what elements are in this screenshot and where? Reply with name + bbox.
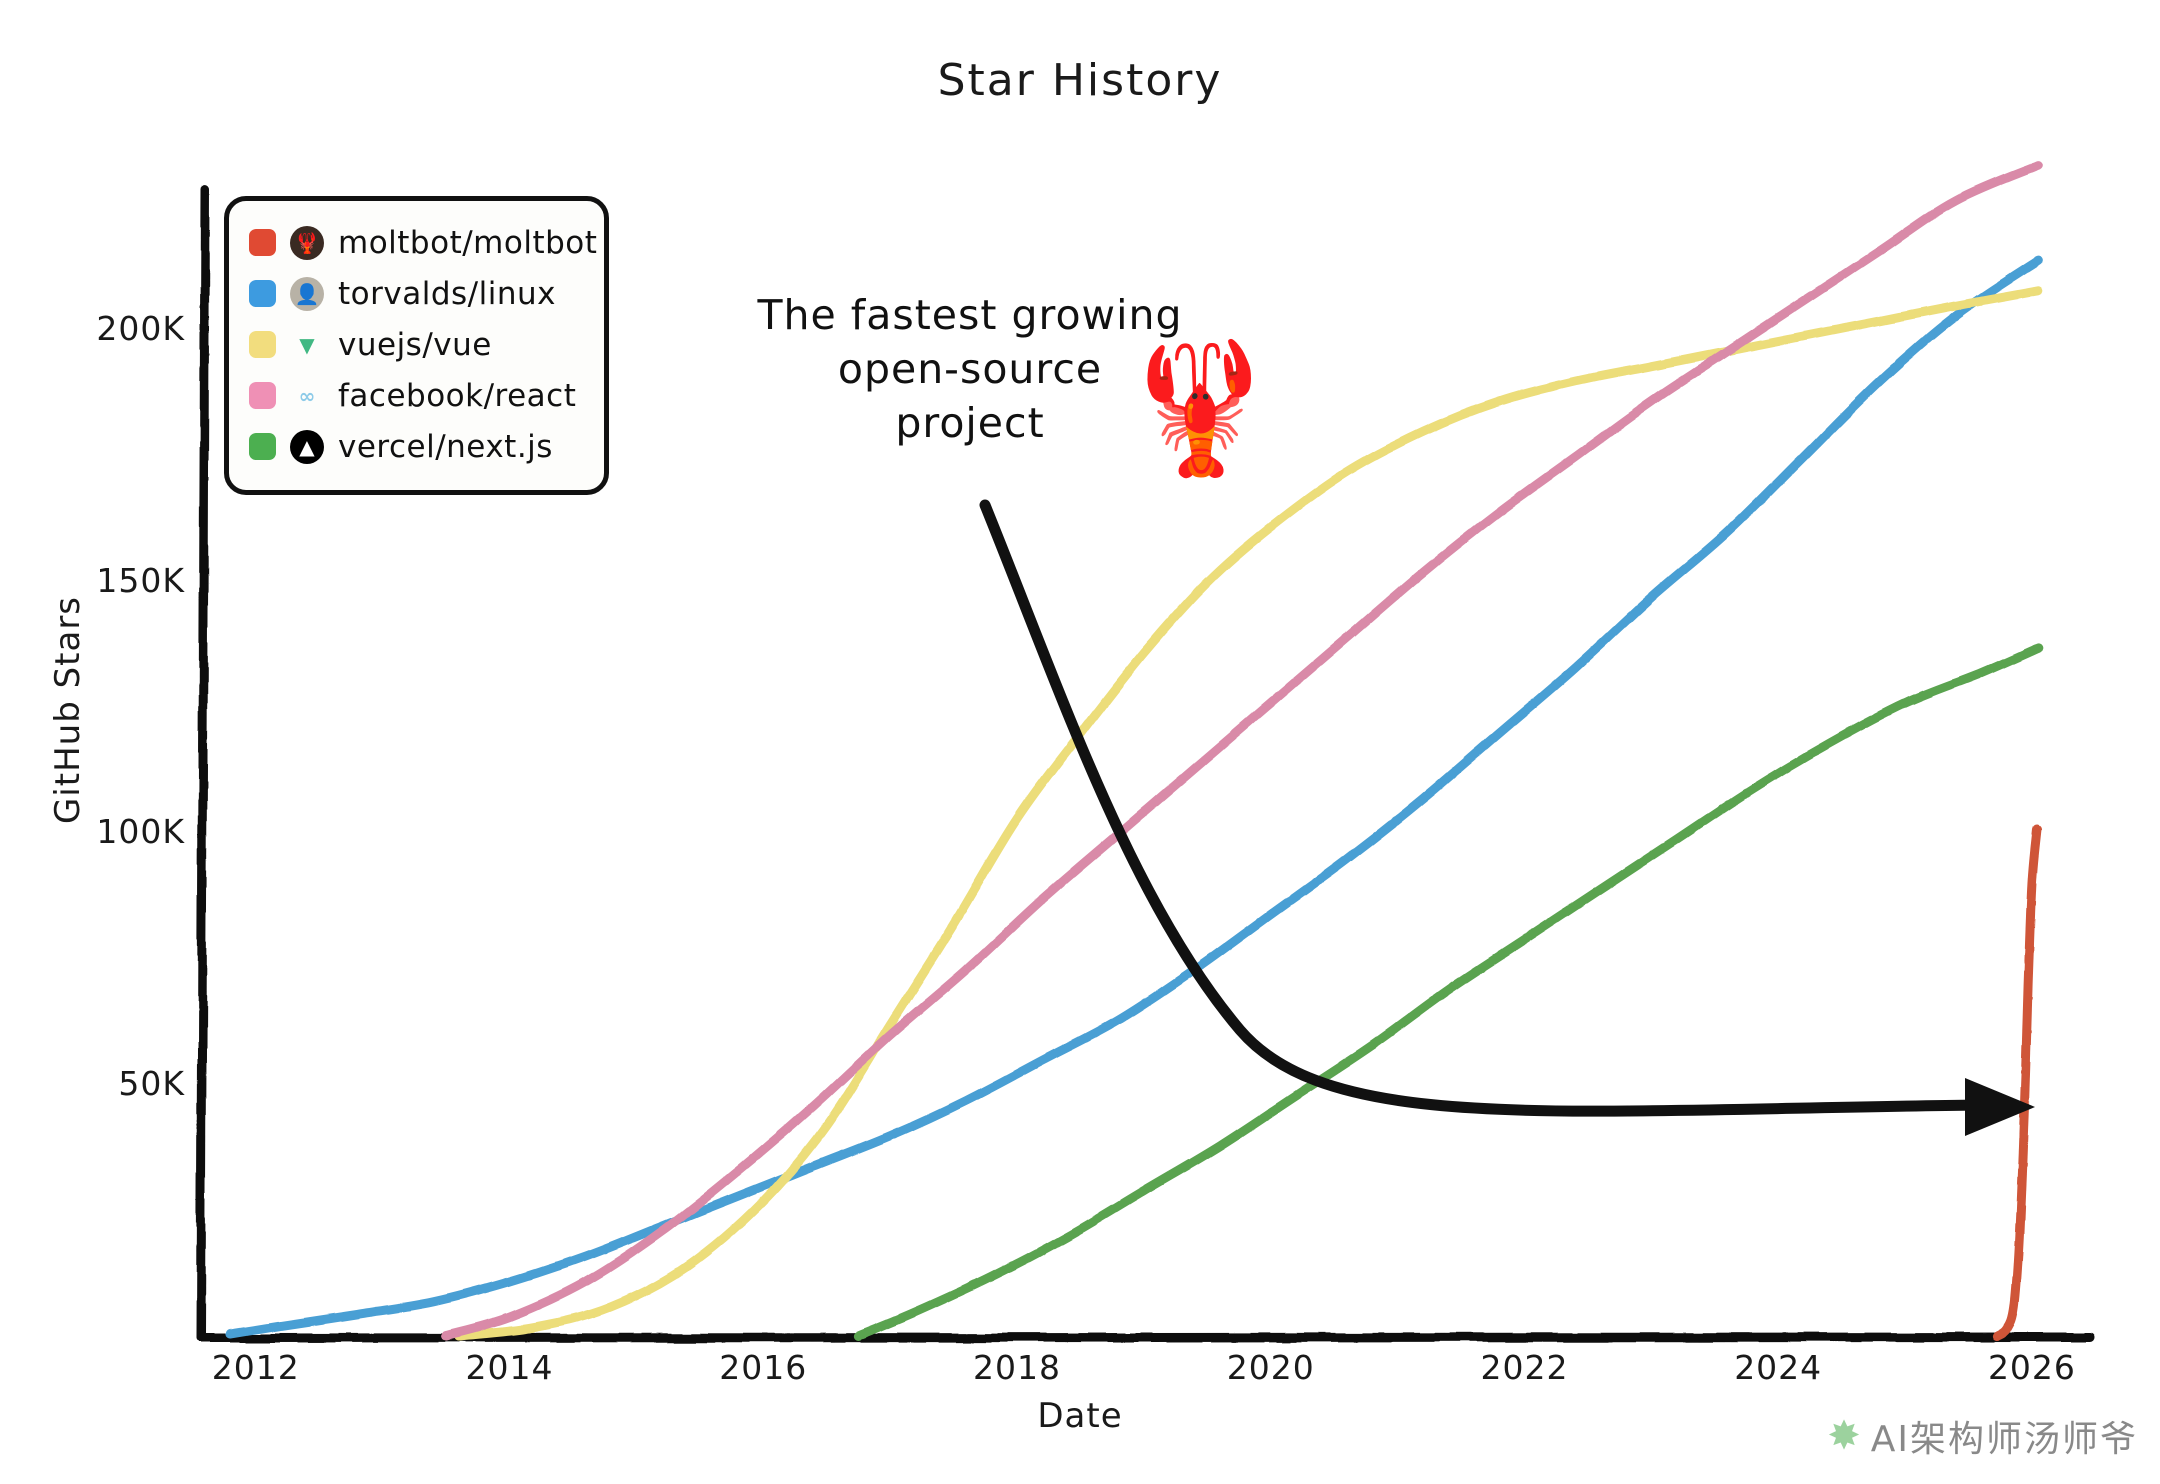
legend-item-label: moltbot/moltbot: [338, 225, 597, 261]
meta-infinity-icon: ∞: [290, 379, 324, 413]
x-tick-2020: 2020: [1186, 1348, 1356, 1387]
x-tick-2024: 2024: [1693, 1348, 1863, 1387]
x-tick-2016: 2016: [678, 1348, 848, 1387]
y-tick-100K: 100K: [55, 812, 185, 851]
legend-item-label: facebook/react: [338, 378, 576, 414]
y-axis-line: [201, 188, 205, 1338]
x-tick-2014: 2014: [424, 1348, 594, 1387]
legend-color-swatch: [249, 280, 276, 307]
x-tick-2026: 2026: [1947, 1348, 2117, 1387]
x-tick-2012: 2012: [171, 1348, 341, 1387]
legend-item-label: vuejs/vue: [338, 327, 492, 363]
x-tick-2018: 2018: [932, 1348, 1102, 1387]
legend-item-vuejs-vue[interactable]: ▼vuejs/vue: [249, 319, 584, 370]
legend-item-torvalds-linux[interactable]: 👤torvalds/linux: [249, 268, 584, 319]
legend-item-moltbot-moltbot[interactable]: 🦞moltbot/moltbot: [249, 217, 584, 268]
nextjs-logo-icon: ▲: [290, 430, 324, 464]
star-icon: ✸: [1827, 1416, 1861, 1456]
series-line-moltbot-moltbot: [1996, 829, 2037, 1337]
legend-item-vercel-next-js[interactable]: ▲vercel/next.js: [249, 421, 584, 472]
legend-color-swatch: [249, 331, 276, 358]
y-tick-150K: 150K: [55, 561, 185, 600]
x-tick-2022: 2022: [1439, 1348, 1609, 1387]
watermark-label: AI架构师汤师爷: [1871, 1410, 2138, 1462]
page-title: Star History: [0, 55, 2160, 106]
legend-color-swatch: [249, 229, 276, 256]
lobster-icon: 🦞: [1120, 345, 1279, 473]
legend-item-label: torvalds/linux: [338, 276, 556, 312]
watermark: ✸ AI架构师汤师爷: [1827, 1410, 2138, 1462]
y-axis-title: GitHub Stars: [48, 580, 88, 840]
moltbot-avatar-icon: 🦞: [290, 226, 324, 260]
legend-color-swatch: [249, 433, 276, 460]
legend-item-facebook-react[interactable]: ∞facebook/react: [249, 370, 584, 421]
vue-logo-icon: ▼: [290, 328, 324, 362]
annotation-arrow: [985, 505, 2035, 1136]
y-tick-200K: 200K: [55, 309, 185, 348]
legend-item-label: vercel/next.js: [338, 429, 553, 465]
series-line-vercel-next-js: [858, 648, 2038, 1336]
y-tick-50K: 50K: [55, 1064, 185, 1103]
star-history-chart: Star History Date GitHub Stars 50K100K15…: [0, 0, 2160, 1484]
legend[interactable]: 🦞moltbot/moltbot👤torvalds/linux▼vuejs/vu…: [224, 196, 609, 495]
torvalds-avatar-icon: 👤: [290, 277, 324, 311]
legend-color-swatch: [249, 382, 276, 409]
